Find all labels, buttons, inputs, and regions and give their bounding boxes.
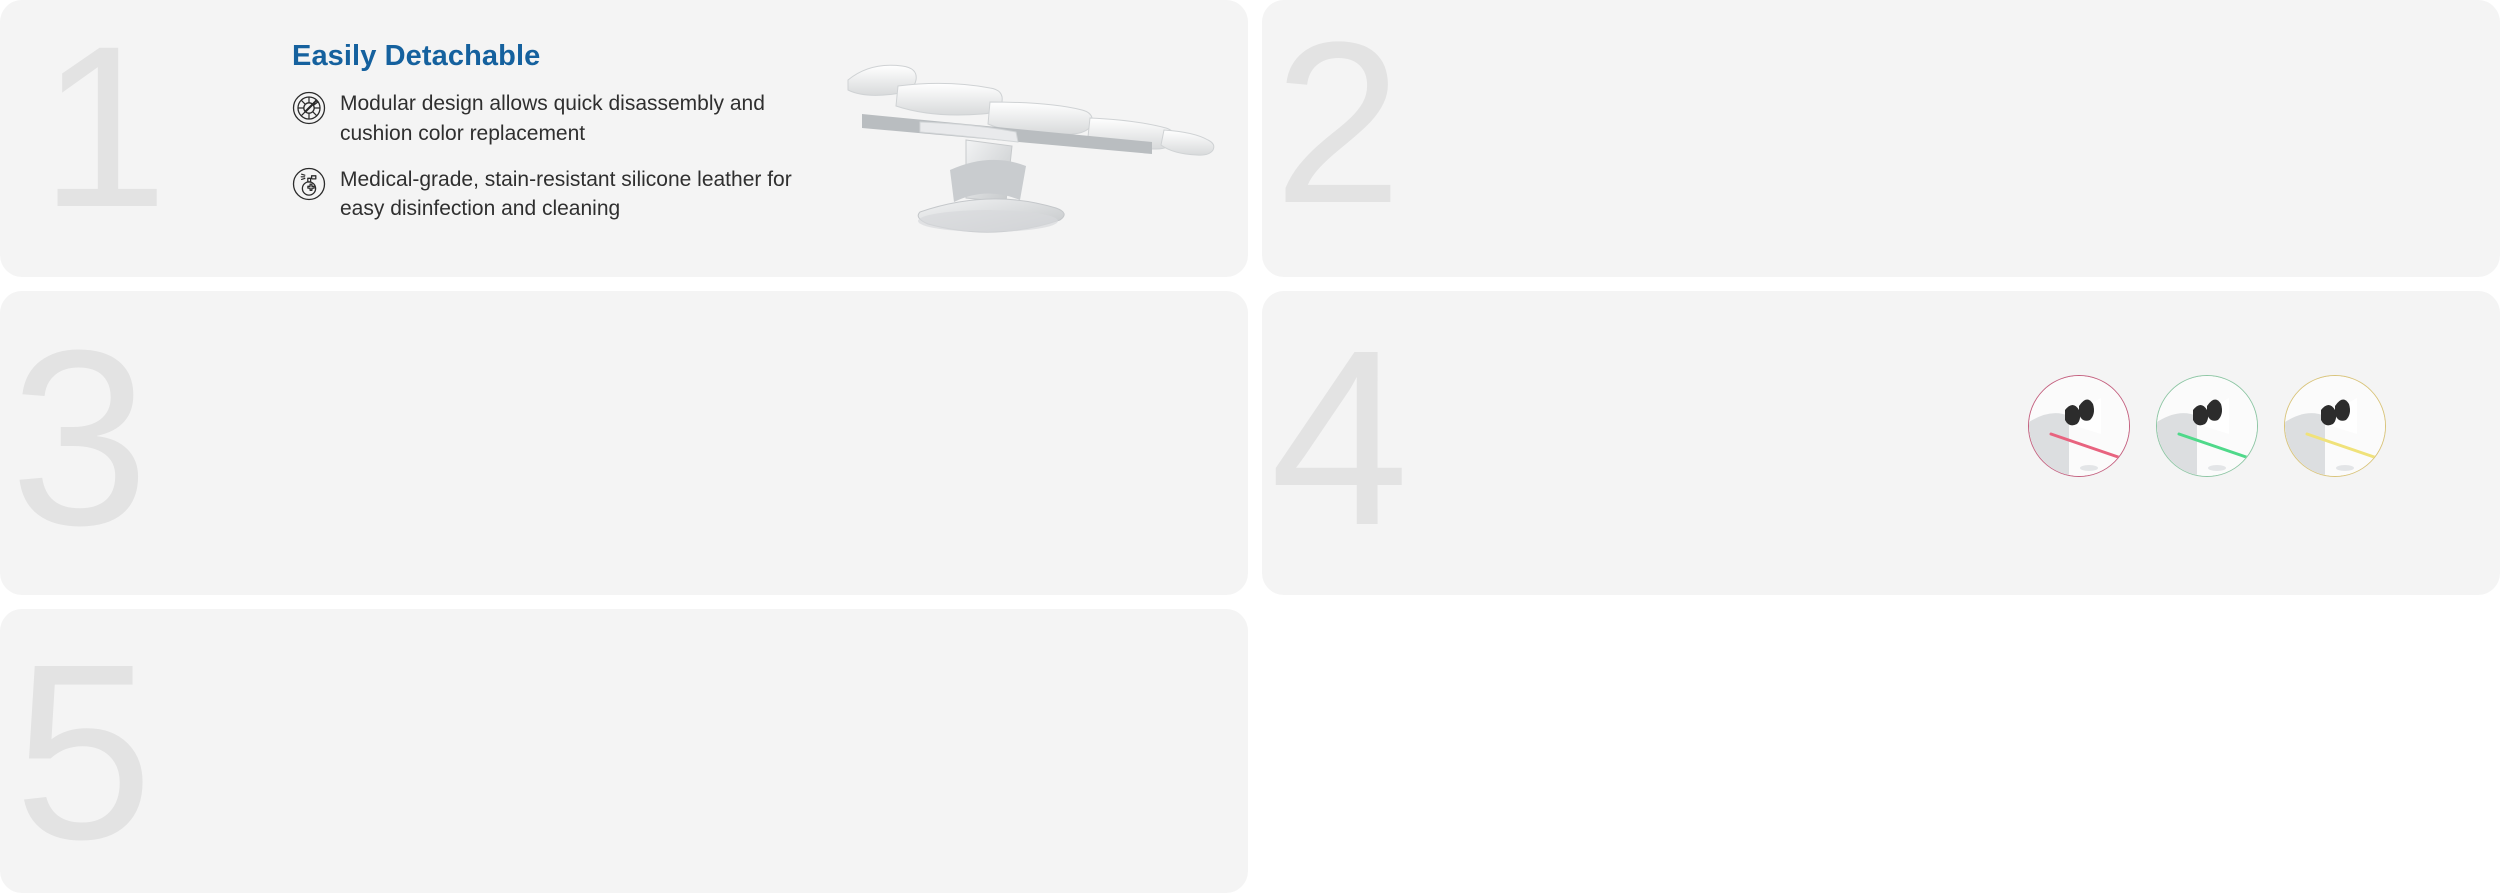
feature-card-5: 5 Intelligent Memory System Advanced sma…: [0, 609, 1248, 893]
card-1-bullet-2-text: Medical-grade, stain-resistant silicone …: [340, 165, 812, 225]
light-swatch-yellow: [2284, 375, 2386, 477]
spray-bottle-medical-cross-circle-icon: [292, 167, 326, 206]
feature-card-1: 1 Easily Detachable Modular design allow…: [0, 0, 1248, 277]
ghost-number-2: 2: [1274, 8, 1402, 238]
ghost-number-3: 3: [10, 313, 149, 563]
card-1-bullet-2: Medical-grade, stain-resistant silicone …: [292, 165, 812, 225]
card-1-title: Easily Detachable: [292, 40, 812, 73]
light-swatch-pink: [2028, 375, 2130, 477]
feature-card-2: 2 Trendelenburg Position This position d…: [1262, 0, 2500, 277]
feature-grid: 1 Easily Detachable Modular design allow…: [0, 0, 2500, 893]
card-1-bullet-1: Modular design allows quick disassembly …: [292, 89, 812, 149]
card-3-chair-image: [700, 582, 1248, 595]
ghost-number-1: 1: [40, 12, 168, 242]
card-1-bullet-1-text: Modular design allows quick disassembly …: [340, 89, 812, 149]
light-swatch-green: [2156, 375, 2258, 477]
ghost-number-4: 4: [1270, 313, 1409, 563]
card-1-content: Easily Detachable Modular design allows …: [292, 40, 812, 224]
feature-card-3: 3 Built-in Side Buttons Fully illuminate…: [0, 291, 1248, 595]
card-1-chair-image: [800, 22, 1230, 262]
screwdriver-wrench-circle-icon: [292, 91, 326, 130]
ambient-light-swatches: [2028, 375, 2386, 477]
ghost-number-5: 5: [14, 627, 153, 877]
